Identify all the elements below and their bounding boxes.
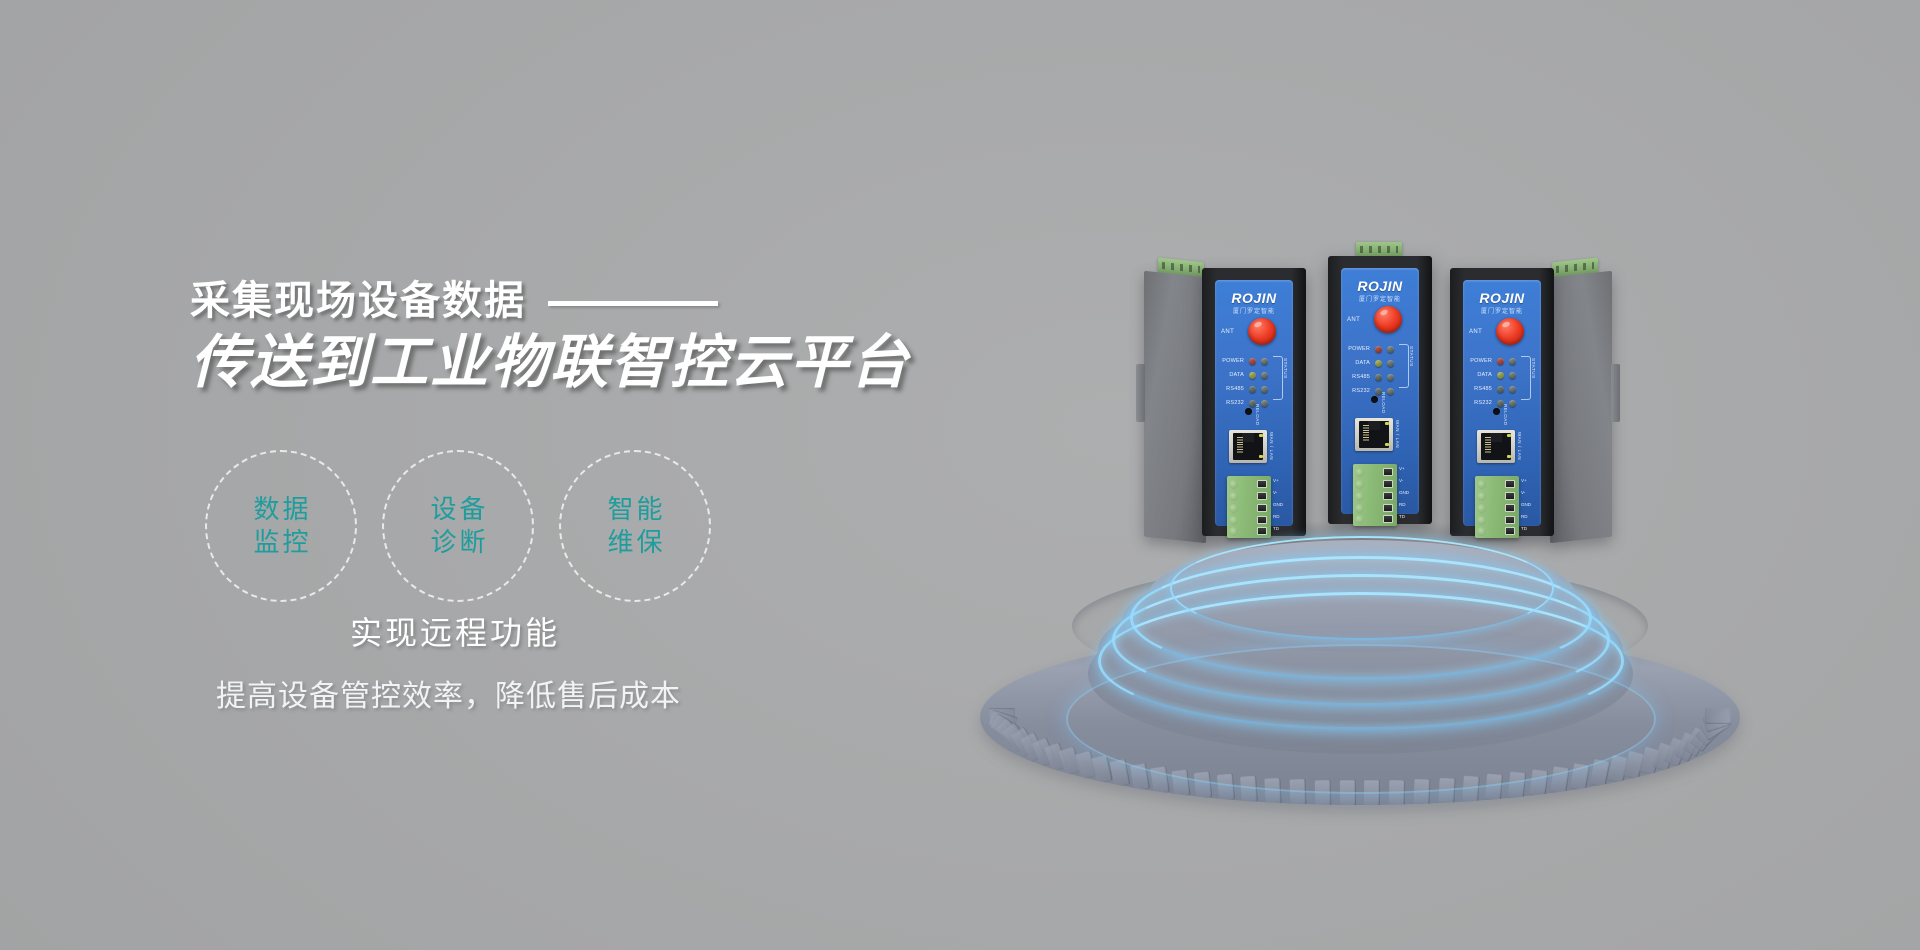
terminal-label: TD bbox=[1399, 513, 1409, 521]
terminal-label: GND bbox=[1273, 501, 1283, 509]
terminal-block-icon bbox=[1353, 464, 1397, 526]
led-data-icon bbox=[1249, 372, 1256, 379]
rj45-pins bbox=[1237, 437, 1243, 454]
pedestal-gear-tooth bbox=[1092, 755, 1113, 784]
pedestal-top-surface bbox=[1176, 528, 1548, 620]
rj45-act-led-icon bbox=[1507, 455, 1511, 458]
rj45-act-led-icon bbox=[1385, 443, 1389, 446]
terminal-block-icon bbox=[1227, 476, 1271, 538]
terminal-screw bbox=[1383, 480, 1393, 488]
feature-circle-data-monitoring[interactable]: 数据 监控 bbox=[205, 450, 357, 602]
terminal-label-group: V+ V- GND RD TD bbox=[1273, 477, 1283, 533]
terminal-slot bbox=[1477, 480, 1486, 489]
led-label: DATA bbox=[1467, 372, 1492, 378]
feature-circle-device-diagnostics[interactable]: 设备 诊断 bbox=[382, 450, 534, 602]
rj45-port-icon bbox=[1355, 418, 1393, 451]
product-scene: ROJIN 厦门罗定智能 ANT POWER DATA RS485 RS232 … bbox=[980, 250, 1800, 800]
pedestal-gear-tooth bbox=[1705, 708, 1731, 724]
reset-label: RELOAD bbox=[1381, 392, 1386, 414]
led-aux-icon bbox=[1261, 400, 1268, 407]
status-label: STATUS bbox=[1409, 346, 1414, 367]
led-label: POWER bbox=[1345, 346, 1370, 352]
headline-row: 采集现场设备数据 bbox=[190, 280, 950, 322]
antenna-connector-icon bbox=[1374, 306, 1402, 333]
terminal-screw bbox=[1383, 492, 1393, 500]
led-data-icon bbox=[1497, 372, 1504, 379]
rj45-port-icon bbox=[1229, 430, 1267, 463]
brand-logo: ROJIN bbox=[1215, 290, 1293, 306]
status-bracket bbox=[1399, 344, 1409, 388]
led-aux-icon bbox=[1387, 360, 1394, 367]
terminal-screw bbox=[1257, 516, 1267, 524]
led-label: RS485 bbox=[1467, 386, 1492, 392]
led-label: RS232 bbox=[1345, 388, 1370, 394]
rj45-link-led-icon bbox=[1507, 434, 1511, 437]
feature-circle-line2: 监控 bbox=[250, 526, 311, 559]
rj45-link-led-icon bbox=[1259, 434, 1263, 437]
port-label: WAN / LAN bbox=[1269, 432, 1274, 460]
led-power-icon bbox=[1375, 346, 1382, 353]
led-label: DATA bbox=[1345, 360, 1370, 366]
terminal-screw bbox=[1505, 480, 1515, 488]
device-body: ROJIN 厦门罗定智能 ANT POWER DATA RS485 RS232 … bbox=[1450, 268, 1554, 536]
device-side-panel bbox=[1144, 271, 1206, 544]
terminal-slot bbox=[1229, 504, 1238, 513]
device-faceplate: ROJIN 厦门罗定智能 ANT POWER DATA RS485 RS232 … bbox=[1341, 268, 1419, 514]
rj45-act-led-icon bbox=[1259, 455, 1263, 458]
led-label: RS232 bbox=[1219, 400, 1244, 406]
device-side-panel bbox=[1550, 271, 1612, 544]
feature-circle-line2: 诊断 bbox=[427, 526, 488, 559]
terminal-label: V+ bbox=[1399, 465, 1409, 473]
led-aux-icon bbox=[1509, 400, 1516, 407]
led-aux-icon bbox=[1387, 374, 1394, 381]
led-power-icon bbox=[1497, 358, 1504, 365]
led-aux-icon bbox=[1509, 358, 1516, 365]
feature-circle-line1: 设备 bbox=[427, 493, 488, 526]
terminal-label-group: V+ V- GND RD TD bbox=[1521, 477, 1531, 533]
reset-button[interactable] bbox=[1371, 396, 1378, 403]
rj45-pins bbox=[1485, 437, 1491, 454]
terminal-slot bbox=[1355, 480, 1364, 489]
terminal-label: RD bbox=[1521, 513, 1531, 521]
device-faceplate: ROJIN 厦门罗定智能 ANT POWER DATA RS485 RS232 … bbox=[1215, 280, 1293, 526]
led-aux-icon bbox=[1509, 372, 1516, 379]
terminal-screw bbox=[1383, 468, 1393, 476]
terminal-screw bbox=[1505, 492, 1515, 500]
din-rail-clip-icon bbox=[1136, 364, 1145, 422]
pedestal-outer-glow bbox=[1066, 644, 1656, 794]
terminal-slot bbox=[1477, 492, 1486, 501]
terminal-screw bbox=[1505, 527, 1515, 535]
headline-divider-rule bbox=[548, 301, 718, 306]
terminal-slot bbox=[1229, 480, 1238, 489]
terminal-screw bbox=[1257, 492, 1267, 500]
terminal-label: GND bbox=[1399, 489, 1409, 497]
rj45-link-led-icon bbox=[1385, 422, 1389, 425]
reset-label: RELOAD bbox=[1503, 404, 1508, 426]
terminal-label: RD bbox=[1399, 501, 1409, 509]
terminal-label: TD bbox=[1521, 525, 1531, 533]
port-label: WAN / LAN bbox=[1517, 432, 1522, 460]
promo-banner: 采集现场设备数据 传送到工业物联智控云平台 数据 监控 设备 诊断 智能 维保 … bbox=[0, 0, 1920, 950]
feature-circle-line1: 数据 bbox=[250, 493, 311, 526]
terminal-screw bbox=[1383, 504, 1393, 512]
antenna-connector-icon bbox=[1496, 318, 1524, 345]
product-pedestal bbox=[980, 540, 1740, 810]
antenna-label: ANT bbox=[1221, 329, 1234, 335]
device-body: ROJIN 厦门罗定智能 ANT POWER DATA RS485 RS232 … bbox=[1202, 268, 1306, 536]
led-rs485-icon bbox=[1249, 386, 1256, 393]
brand-logo: ROJIN bbox=[1341, 278, 1419, 294]
terminal-slot bbox=[1355, 492, 1364, 501]
status-label: STATUS bbox=[1283, 358, 1288, 379]
terminal-label: RD bbox=[1273, 513, 1283, 521]
terminal-screw bbox=[1505, 516, 1515, 524]
terminal-screw bbox=[1257, 504, 1267, 512]
led-aux-icon bbox=[1261, 372, 1268, 379]
terminal-slot bbox=[1229, 516, 1238, 525]
device-gateway-center: ROJIN 厦门罗定智能 ANT POWER DATA RS485 RS232 … bbox=[1328, 256, 1432, 526]
terminal-label: V+ bbox=[1521, 477, 1531, 485]
terminal-slot bbox=[1355, 515, 1364, 524]
din-rail-clip-icon bbox=[1611, 364, 1620, 422]
tagline-secondary: 提高设备管控效率，降低售后成本 bbox=[216, 671, 681, 715]
terminal-slot bbox=[1355, 468, 1364, 477]
terminal-block-icon bbox=[1475, 476, 1519, 538]
terminal-slot bbox=[1355, 504, 1364, 513]
antenna-label: ANT bbox=[1469, 329, 1482, 335]
brand-subtitle: 厦门罗定智能 bbox=[1215, 306, 1293, 315]
feature-circle-smart-maintenance[interactable]: 智能 维保 bbox=[559, 450, 711, 602]
led-aux-icon bbox=[1261, 358, 1268, 365]
rj45-port-icon bbox=[1477, 430, 1515, 463]
device-body: ROJIN 厦门罗定智能 ANT POWER DATA RS485 RS232 … bbox=[1328, 256, 1432, 524]
status-bracket bbox=[1521, 356, 1531, 400]
terminal-slot bbox=[1477, 504, 1486, 513]
feature-circle-line1: 智能 bbox=[604, 493, 665, 526]
led-label: POWER bbox=[1219, 358, 1244, 364]
reset-label: RELOAD bbox=[1255, 404, 1260, 426]
led-label: RS485 bbox=[1219, 386, 1244, 392]
brand-subtitle: 厦门罗定智能 bbox=[1341, 294, 1419, 303]
reset-button[interactable] bbox=[1493, 408, 1500, 415]
terminal-label: V+ bbox=[1273, 477, 1283, 485]
rj45-pins bbox=[1363, 425, 1369, 442]
device-gateway-left: ROJIN 厦门罗定智能 ANT POWER DATA RS485 RS232 … bbox=[1202, 268, 1306, 538]
terminal-screw bbox=[1257, 480, 1267, 488]
led-label: DATA bbox=[1219, 372, 1244, 378]
status-label: STATUS bbox=[1531, 358, 1536, 379]
device-faceplate: ROJIN 厦门罗定智能 ANT POWER DATA RS485 RS232 … bbox=[1463, 280, 1541, 526]
led-aux-icon bbox=[1387, 388, 1394, 395]
tagline-primary: 实现远程功能 bbox=[350, 608, 560, 654]
device-gateway-right: ROJIN 厦门罗定智能 ANT POWER DATA RS485 RS232 … bbox=[1450, 268, 1554, 538]
headline-secondary: 传送到工业物联智控云平台 bbox=[190, 332, 950, 395]
terminal-label: V- bbox=[1399, 477, 1409, 485]
feature-circle-line2: 维保 bbox=[604, 526, 665, 559]
terminal-slot bbox=[1229, 527, 1238, 536]
brand-subtitle: 厦门罗定智能 bbox=[1463, 306, 1541, 315]
terminal-screw bbox=[1383, 515, 1393, 523]
terminal-slot bbox=[1477, 516, 1486, 525]
led-label: RS485 bbox=[1345, 374, 1370, 380]
terminal-screw bbox=[1505, 504, 1515, 512]
led-data-icon bbox=[1375, 360, 1382, 367]
led-aux-icon bbox=[1261, 386, 1268, 393]
led-rs485-icon bbox=[1497, 386, 1504, 393]
led-label: POWER bbox=[1467, 358, 1492, 364]
terminal-slot bbox=[1229, 492, 1238, 501]
reset-button[interactable] bbox=[1245, 408, 1252, 415]
led-power-icon bbox=[1249, 358, 1256, 365]
antenna-connector-icon bbox=[1248, 318, 1276, 345]
feature-circle-group: 数据 监控 设备 诊断 智能 维保 bbox=[205, 450, 711, 602]
terminal-slot bbox=[1477, 527, 1486, 536]
led-label: RS232 bbox=[1467, 400, 1492, 406]
terminal-label: GND bbox=[1521, 501, 1531, 509]
led-aux-icon bbox=[1387, 346, 1394, 353]
terminal-label: V- bbox=[1273, 489, 1283, 497]
status-bracket bbox=[1273, 356, 1283, 400]
port-label: WAN / LAN bbox=[1395, 420, 1400, 448]
headline-primary: 采集现场设备数据 bbox=[190, 280, 526, 322]
antenna-label: ANT bbox=[1347, 317, 1360, 323]
brand-logo: ROJIN bbox=[1463, 290, 1541, 306]
led-aux-icon bbox=[1509, 386, 1516, 393]
copy-block: 采集现场设备数据 传送到工业物联智控云平台 bbox=[190, 280, 950, 395]
terminal-label-group: V+ V- GND RD TD bbox=[1399, 465, 1409, 521]
led-rs485-icon bbox=[1375, 374, 1382, 381]
terminal-label: V- bbox=[1521, 489, 1531, 497]
